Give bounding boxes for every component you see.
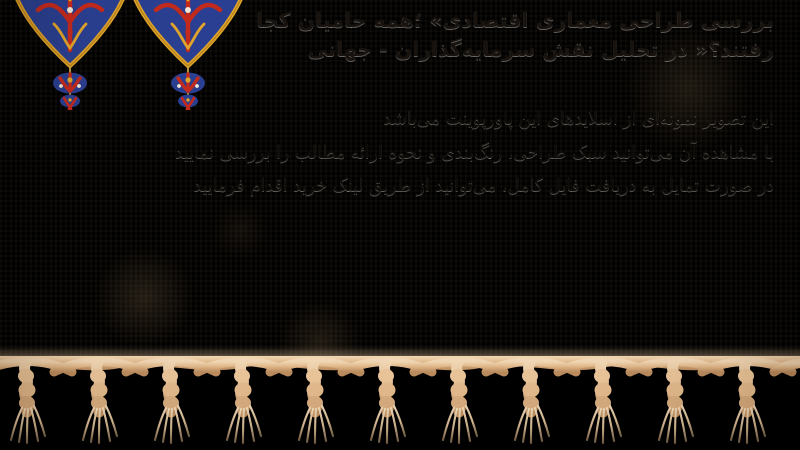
body-line-3: در صورت تمایل به دریافت فایل کامل، می‌تو… [67,177,774,196]
slide-title: بررسی طراحی معماری اقتصادی» ؛همه حامیان … [134,6,774,64]
slide-body-text: این تصویر نمونه‌ای از اسلایدهای این پاور… [14,110,774,211]
carpet-knotted-fringe [0,356,800,450]
body-line-2: با مشاهده آن می‌توانید سبک طراحی، رنگ‌بن… [67,144,774,163]
slide-text-layer: بررسی طراحی معماری اقتصادی» ؛همه حامیان … [0,0,800,372]
slide-title-line-2: رفتند؟« در تحلیل نقش سرمایه‌گذاران - جها… [134,35,774,64]
slide-title-line-1: بررسی طراحی معماری اقتصادی» ؛همه حامیان … [134,6,774,35]
presentation-slide: بررسی طراحی معماری اقتصادی» ؛همه حامیان … [0,0,800,450]
body-line-1: این تصویر نمونه‌ای از اسلایدهای این پاور… [67,110,774,129]
